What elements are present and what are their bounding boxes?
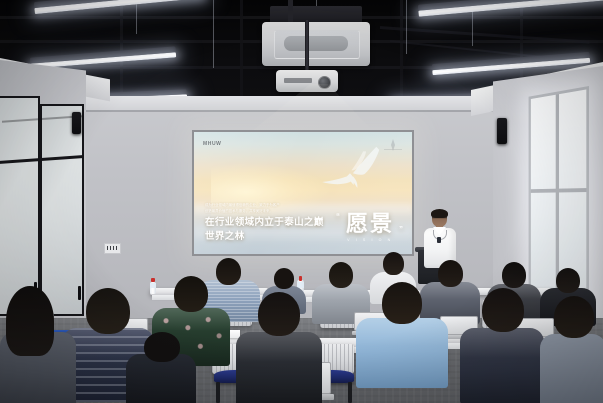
ceiling-cassette-air-conditioner xyxy=(262,22,370,66)
attendee-navy-right xyxy=(460,288,544,400)
attendee-head xyxy=(383,252,404,275)
slide-caption-line-2: 创造最具价值的技术与服务，共享美好未来。 xyxy=(205,208,323,214)
soaring-eagle-graphic xyxy=(294,144,403,203)
slide-vision-title: “ 愿景 ” xyxy=(346,213,394,235)
presentation-slide: MHUW 成为行业领域内最值得信赖的企业，致力于为客户 创造最具价值的技术 xyxy=(194,132,412,254)
attendee-torso xyxy=(236,332,322,403)
projection-screen: MHUW 成为行业领域内最值得信赖的企业，致力于为客户 创造最具价值的技术 xyxy=(192,130,414,256)
wall-speaker xyxy=(497,118,507,144)
attendee-head xyxy=(382,282,422,324)
attendee-head xyxy=(174,276,208,312)
attendee-front-nearest xyxy=(126,332,196,403)
vision-title-text: 愿景 xyxy=(346,211,394,236)
ceiling-mounted-projector xyxy=(276,70,338,92)
glass-door-partition xyxy=(40,104,84,316)
attendee-dark-front xyxy=(236,292,322,403)
chair-leg xyxy=(348,382,352,403)
attendee-light-blue-shirt xyxy=(356,282,448,386)
attendee-right-edge xyxy=(540,296,603,403)
attendee-head xyxy=(274,268,294,289)
slide-headline-line-2: 世界之林 xyxy=(205,230,355,244)
lamp-suspension-wire xyxy=(406,0,407,54)
projector-mount-pole xyxy=(305,20,309,72)
attendee-head xyxy=(556,268,580,293)
attendee-head xyxy=(144,332,180,362)
lamp-suspension-wire xyxy=(213,0,214,68)
presenter-badge xyxy=(437,237,441,243)
attendee-head xyxy=(329,262,353,288)
slide-vision-block: “ 愿景 ” V I S I O N xyxy=(346,213,394,242)
slide-logo: MHUW xyxy=(203,141,222,147)
conference-room-photo: MHUW 成为行业领域内最值得信赖的企业，致力于为客户 创造最具价值的技术 xyxy=(0,0,603,403)
slide-vision-subtitle: V I S I O N xyxy=(346,238,394,242)
lamp-suspension-wire xyxy=(136,0,137,34)
attendee-torso xyxy=(460,328,544,403)
quote-close-mark: ” xyxy=(399,226,405,234)
attendee-head xyxy=(258,292,300,336)
quote-open-mark: “ xyxy=(336,213,342,221)
attendee-torso xyxy=(540,334,603,403)
ac-vent xyxy=(284,36,348,51)
presenter-hair xyxy=(431,209,448,218)
attendee-head xyxy=(502,262,526,288)
projector-lens-icon xyxy=(318,76,331,89)
attendee-head xyxy=(482,288,524,332)
wall-speaker xyxy=(72,112,81,134)
slide-headline-line-1: 在行业领域内立于泰山之巅 xyxy=(205,216,355,230)
slide-caption: 成为行业领域内最值得信赖的企业，致力于为客户 创造最具价值的技术与服务，共享美好… xyxy=(205,202,323,214)
attendee-head xyxy=(554,296,594,338)
chair-leg xyxy=(216,382,220,403)
slide-headline: 在行业领域内立于泰山之巅 世界之林 xyxy=(205,216,355,245)
attendee-torso xyxy=(356,318,448,388)
projector-label xyxy=(284,78,312,83)
wall-notice-sign xyxy=(104,243,121,254)
attendee-long-hair-left xyxy=(0,286,76,403)
attendee-head xyxy=(86,288,130,334)
attendee-hair xyxy=(6,286,54,356)
